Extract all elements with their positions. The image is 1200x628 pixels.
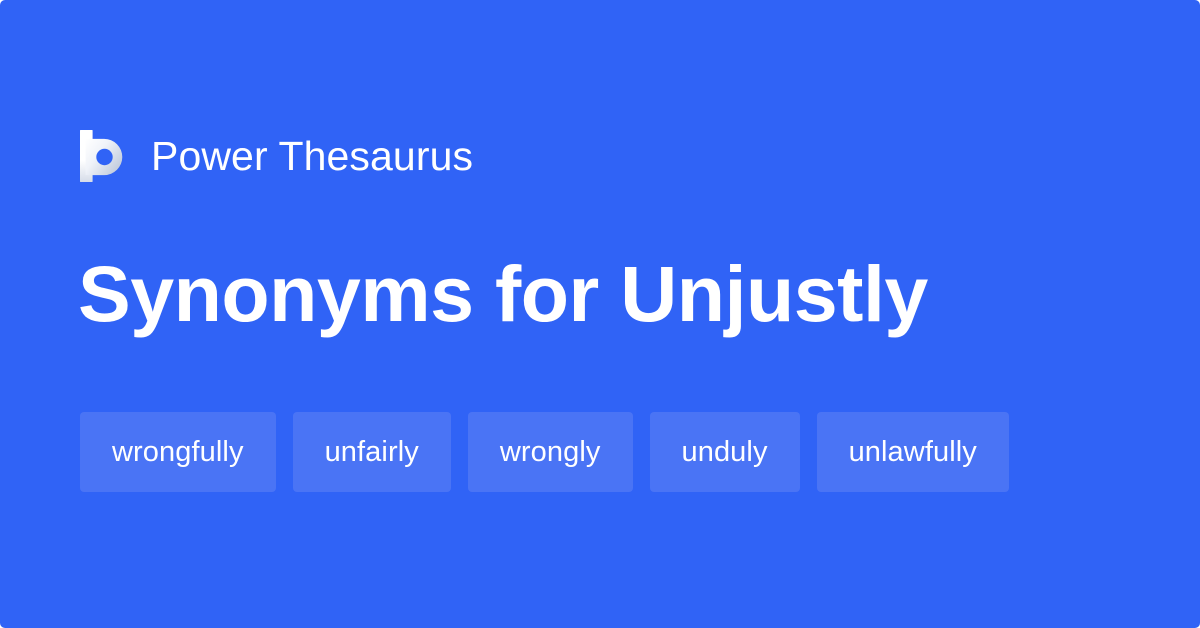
page-title: Synonyms for Unjustly	[78, 248, 928, 340]
synonym-chip-list: wrongfully unfairly wrongly unduly unlaw…	[80, 412, 1009, 492]
synonym-chip[interactable]: wrongly	[468, 412, 633, 492]
synonym-chip[interactable]: unlawfully	[817, 412, 1009, 492]
synonym-chip[interactable]: wrongfully	[80, 412, 276, 492]
share-card: power thesaurus Synonyms for Unjustly wr…	[0, 0, 1200, 628]
synonym-chip[interactable]: unduly	[650, 412, 800, 492]
synonym-chip[interactable]: unfairly	[293, 412, 451, 492]
power-thesaurus-logo-icon	[80, 130, 127, 182]
brand-lockup[interactable]: power thesaurus	[80, 129, 473, 183]
brand-name: power thesaurus	[151, 136, 473, 177]
